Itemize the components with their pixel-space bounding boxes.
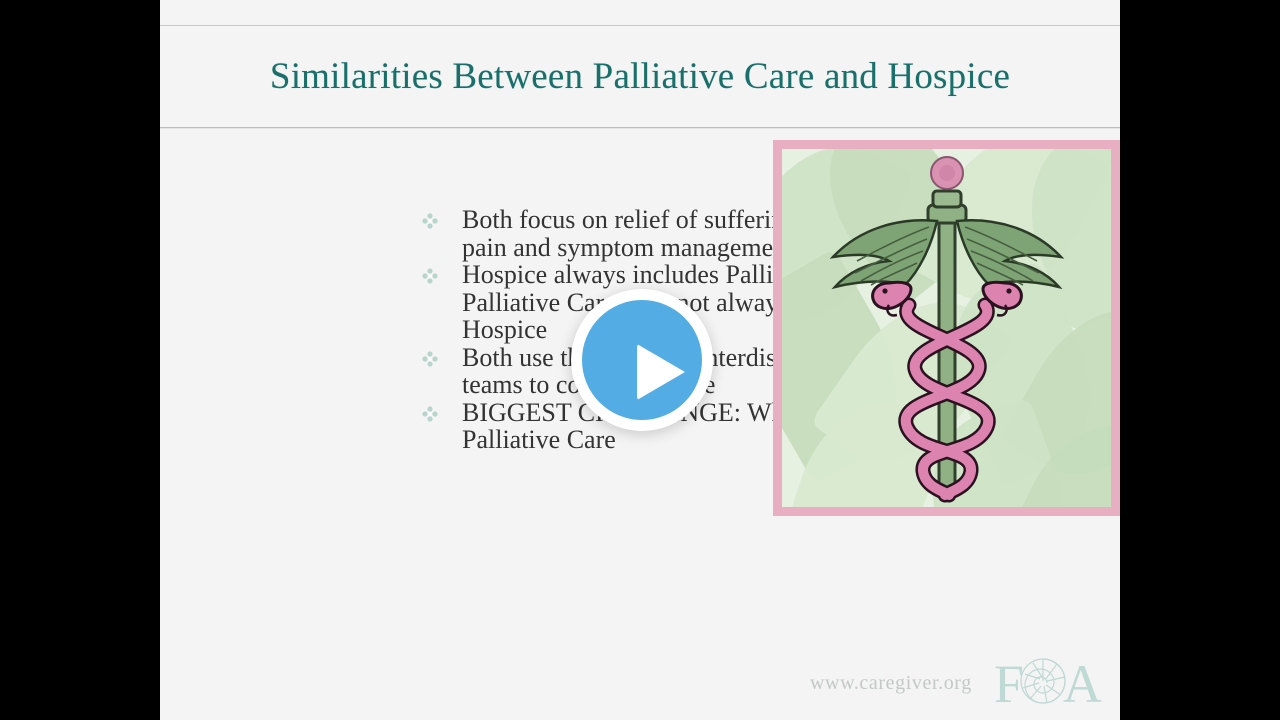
slide-top-strip (160, 0, 1120, 25)
video-player-viewer: Similarities Between Palliative Care and… (0, 0, 1280, 720)
diamond-clover-bullet-icon (422, 344, 462, 367)
page-title: Similarities Between Palliative Care and… (270, 55, 1010, 98)
diamond-clover-bullet-icon (422, 399, 462, 422)
nautilus-shell-spiral-icon (1017, 655, 1069, 712)
site-url-label: www.caregiver.org (810, 672, 972, 695)
letterbox-right (1120, 0, 1280, 720)
play-button-disc (582, 300, 702, 420)
slide-title-band: Similarities Between Palliative Care and… (160, 26, 1120, 127)
fca-logo: F (994, 655, 1101, 712)
caduceus-icon (827, 155, 1067, 507)
footer-branding: www.caregiver.org F (810, 655, 1101, 712)
letterbox-left (0, 0, 160, 720)
diamond-clover-bullet-icon (422, 261, 462, 284)
caduceus-illustration (773, 140, 1120, 516)
slide-title-divider (160, 127, 1120, 128)
picture-canvas (782, 149, 1111, 507)
play-triangle-icon (637, 344, 685, 400)
diamond-clover-bullet-icon (422, 206, 462, 229)
logo-letter-a: A (1063, 657, 1101, 711)
play-button[interactable] (571, 289, 713, 431)
